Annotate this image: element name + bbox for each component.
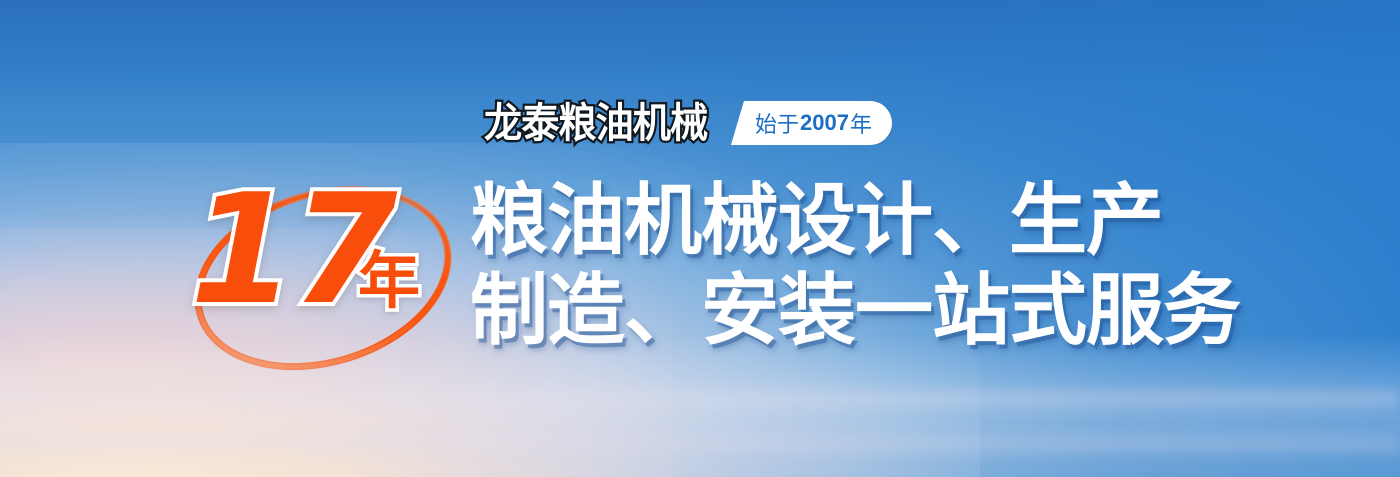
headline-block: 粮油机械设计、生产 制造、安装一站式服务 [470, 183, 1240, 350]
founded-year-value: 2007 [799, 110, 850, 136]
founded-year-badge: 始于 2007 年 [731, 101, 892, 145]
headline-line-1: 粮油机械设计、生产 [470, 183, 1240, 259]
founded-suffix-label: 年 [850, 107, 872, 139]
founded-prefix-label: 始于 [755, 107, 799, 139]
banner-content: 龙泰粮油机械 始于 2007 年 [0, 0, 1400, 477]
anniversary-mark: 17 年 [178, 178, 468, 368]
brand-row: 龙泰粮油机械 始于 2007 年 [484, 97, 892, 149]
brand-logo-text: 龙泰粮油机械 [484, 103, 707, 144]
anniversary-unit-label: 年 [358, 250, 420, 312]
promo-banner: 龙泰粮油机械 始于 2007 年 [0, 0, 1400, 477]
headline-line-2: 制造、安装一站式服务 [470, 273, 1240, 349]
